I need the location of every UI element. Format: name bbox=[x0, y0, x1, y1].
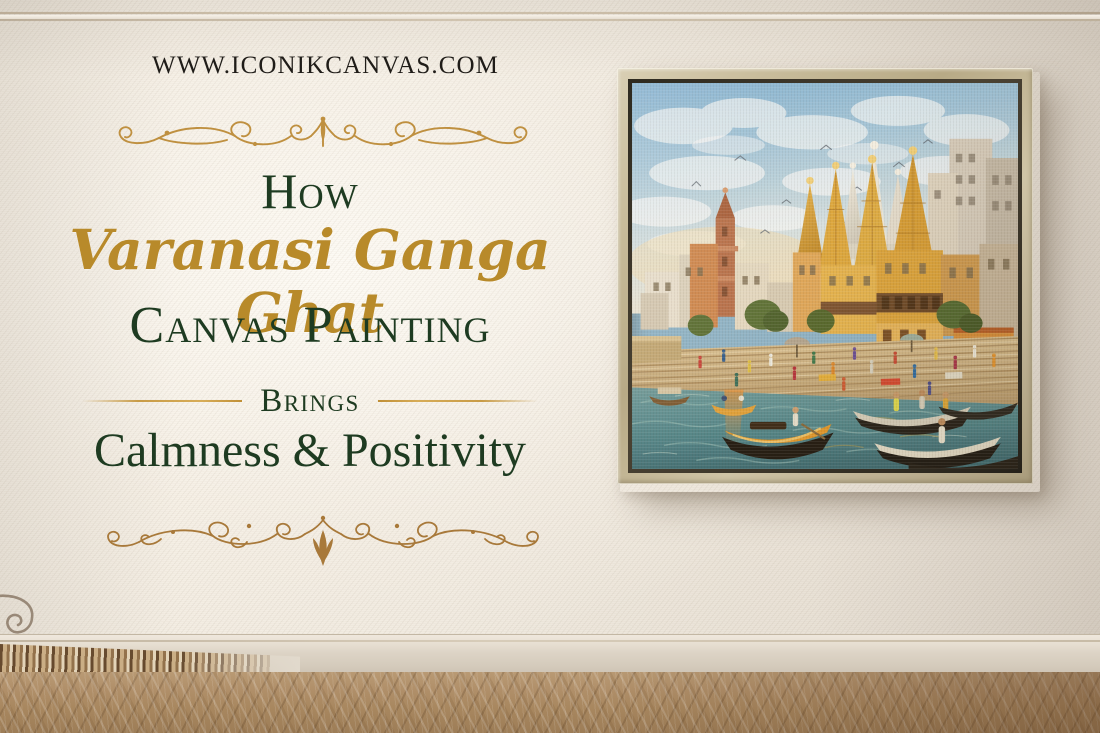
baseboard-trim-line bbox=[0, 640, 1100, 642]
picture-frame[interactable] bbox=[617, 68, 1033, 484]
varanasi-ghat-painting-illustration bbox=[632, 83, 1018, 469]
site-url[interactable]: WWW.ICONIKCANVAS.COM bbox=[152, 52, 499, 80]
headline-line-canvas-painting: Canvas Painting bbox=[0, 300, 620, 352]
headline-line-calmness-positivity: Calmness & Positivity bbox=[0, 426, 620, 476]
canvas-artwork[interactable] bbox=[632, 83, 1018, 469]
gold-rule-right bbox=[378, 400, 538, 402]
headline-line-how: How bbox=[0, 166, 620, 216]
cornice-molding-line-top bbox=[0, 12, 1100, 14]
cornice-molding-line-bottom bbox=[0, 19, 1100, 21]
gold-rule-left bbox=[82, 400, 242, 402]
filigree-divider-bottom-icon bbox=[97, 512, 549, 576]
parquet-floor bbox=[0, 672, 1100, 733]
headline-brings-row: Brings bbox=[0, 380, 620, 422]
floor-shadow-right bbox=[600, 672, 1100, 733]
filigree-divider-top-icon bbox=[97, 112, 549, 164]
promo-banner: WWW.ICONIKCANVAS.COM How Varanas bbox=[0, 0, 1100, 733]
headline-line-brings: Brings bbox=[260, 383, 359, 420]
